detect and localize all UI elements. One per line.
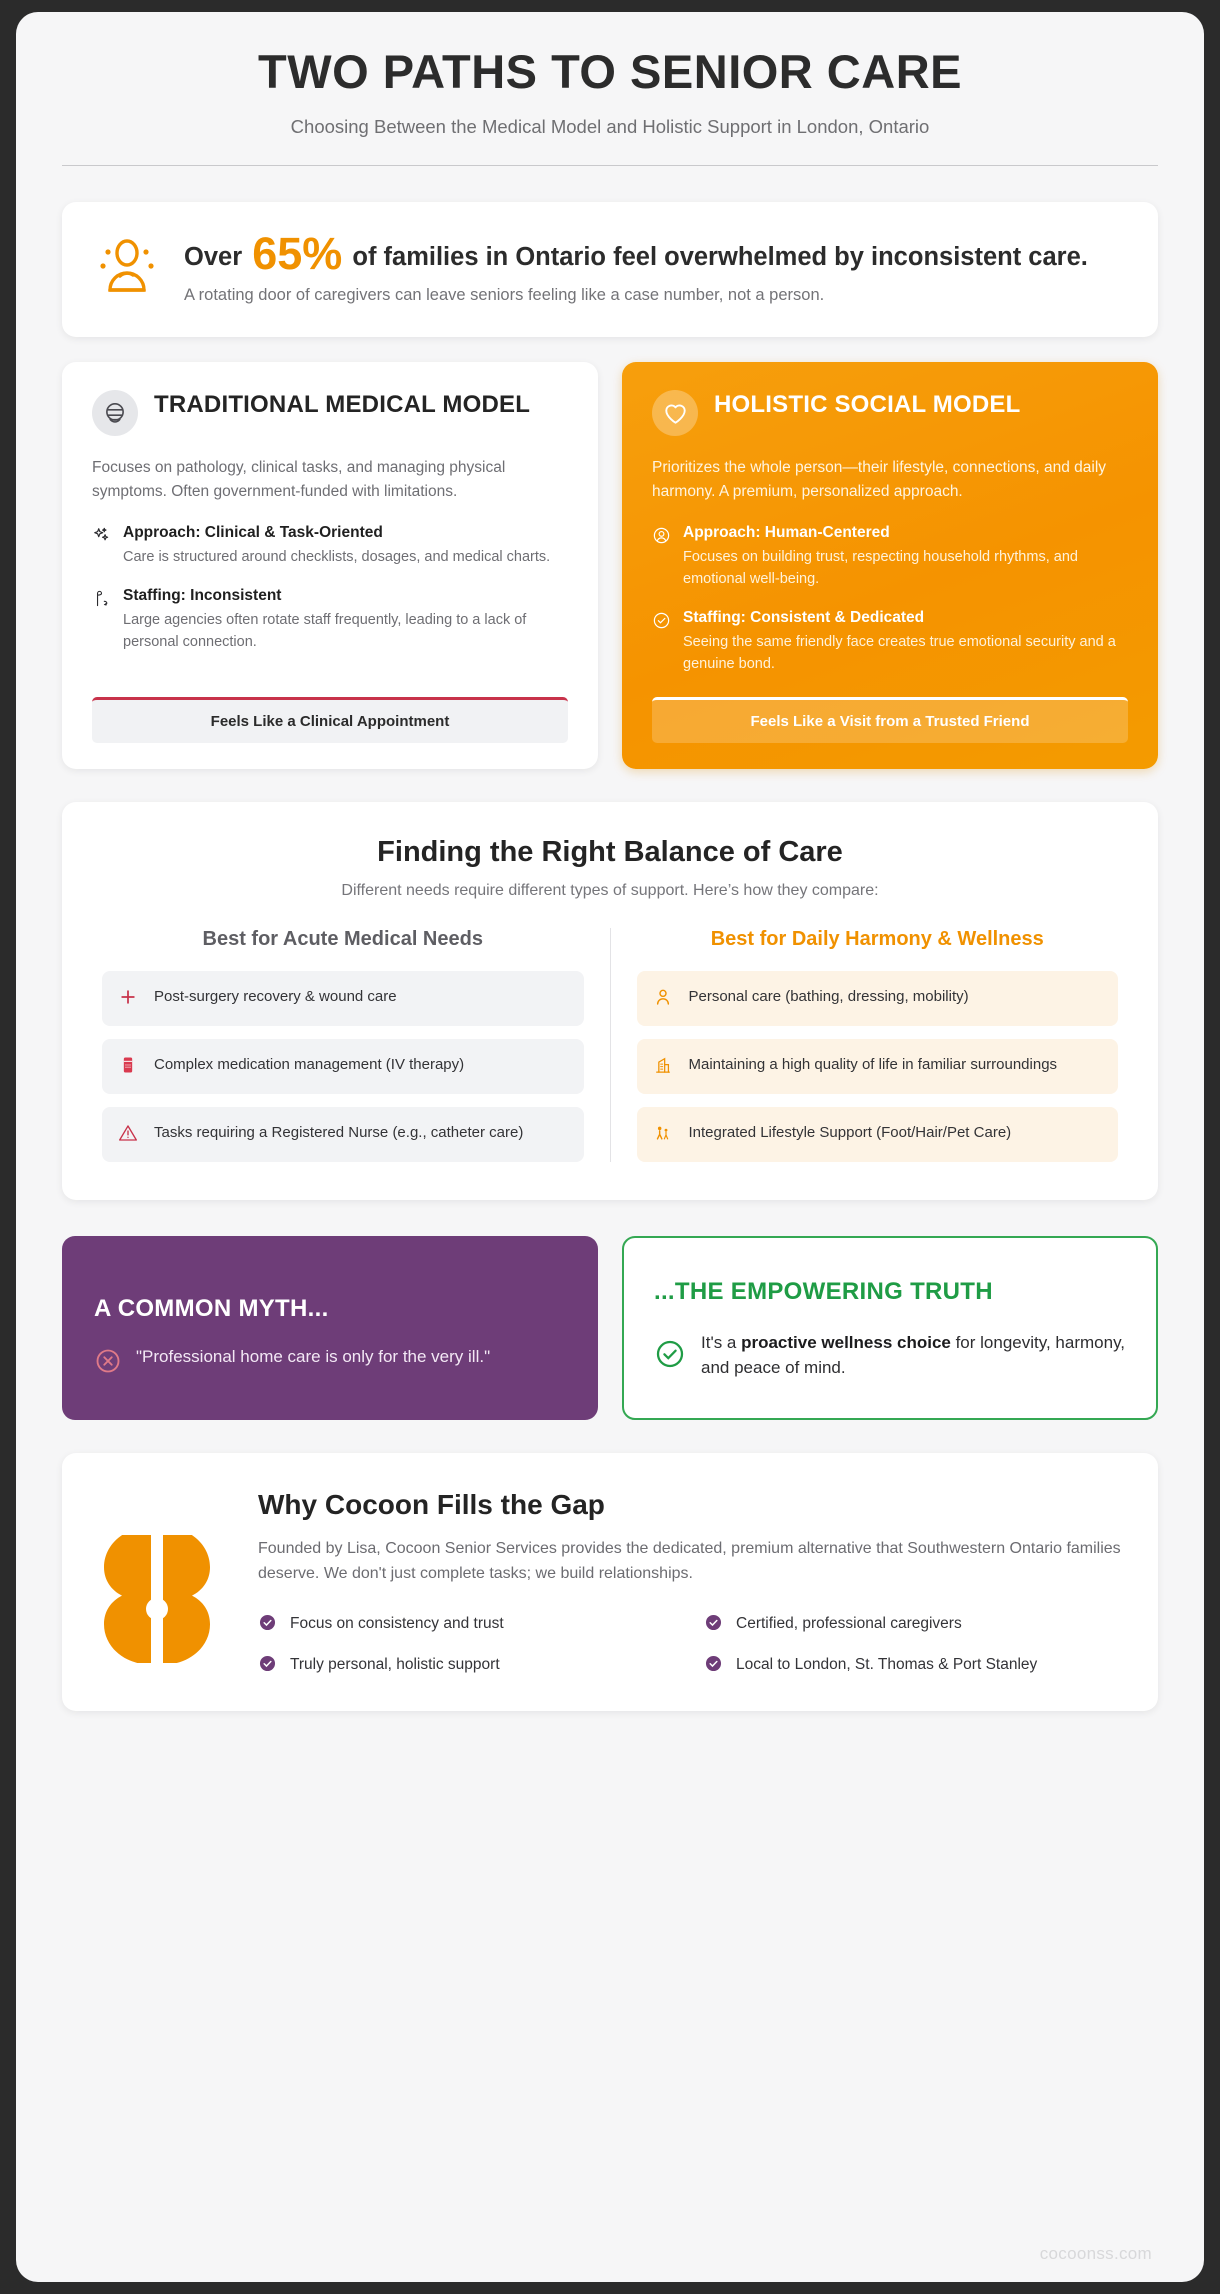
myth-truth-section: A COMMON MYTH... "Professional home care… [62, 1236, 1158, 1420]
x-circle-icon [94, 1345, 122, 1379]
screenshot-frame: TWO PATHS TO SENIOR CARE Choosing Betwee… [0, 0, 1220, 2294]
stethoscope-icon [92, 390, 138, 436]
why-title: Why Cocoon Fills the Gap [258, 1489, 1124, 1521]
stat-note: A rotating door of caregivers can leave … [184, 286, 1124, 305]
balance-lead: Different needs require different types … [96, 882, 1124, 900]
traditional-title: TRADITIONAL MEDICAL MODEL [154, 390, 530, 419]
people-group-icon [96, 232, 158, 300]
balance-columns: Best for Acute Medical Needs Post-surger… [96, 928, 1124, 1162]
check-circle-icon [654, 1338, 686, 1374]
holistic-feature-detail: Seeing the same friendly face creates tr… [683, 632, 1128, 676]
list-item-text: Maintaining a high quality of life in fa… [689, 1054, 1103, 1076]
why-cocoon-section: Why Cocoon Fills the Gap Founded by Lisa… [62, 1453, 1158, 1711]
traditional-feature-title: Staffing: Inconsistent [123, 586, 568, 606]
traditional-header: TRADITIONAL MEDICAL MODEL [92, 390, 568, 436]
balance-section: Finding the Right Balance of Care Differ… [62, 802, 1158, 1200]
traditional-feature-list: Approach: Clinical & Task-Oriented Care … [92, 523, 568, 654]
myth-heading: A COMMON MYTH... [94, 1295, 566, 1323]
list-item: Truly personal, holistic support [258, 1654, 678, 1677]
check-badge-icon [704, 1654, 723, 1677]
warning-triangle-icon [118, 1122, 140, 1147]
page-title: TWO PATHS TO SENIOR CARE [62, 46, 1158, 99]
staff-rotation-icon [92, 586, 112, 612]
traditional-description: Focuses on pathology, clinical tasks, an… [92, 456, 568, 504]
holistic-feature-detail: Focuses on building trust, respecting ho… [683, 547, 1128, 591]
list-item-text: Certified, professional caregivers [736, 1613, 962, 1635]
model-comparison: TRADITIONAL MEDICAL MODEL Focuses on pat… [62, 362, 1158, 769]
holistic-header: HOLISTIC SOCIAL MODEL [652, 390, 1128, 436]
home-quality-icon [653, 1054, 675, 1079]
list-item: Local to London, St. Thomas & Port Stanl… [704, 1654, 1124, 1677]
stat-prefix: Over [184, 243, 242, 271]
list-item-text: Tasks requiring a Registered Nurse (e.g.… [154, 1122, 568, 1144]
truth-text-before: It's a [701, 1333, 741, 1352]
traditional-feature-detail: Care is structured around checklists, do… [123, 547, 568, 569]
lifestyle-support-icon [653, 1122, 675, 1147]
why-body-text: Founded by Lisa, Cocoon Senior Services … [258, 1537, 1124, 1587]
list-item: Integrated Lifestyle Support (Foot/Hair/… [637, 1107, 1119, 1162]
watermark: cocoonss.com [1040, 2244, 1152, 2264]
holistic-description: Prioritizes the whole person—their lifes… [652, 456, 1128, 504]
sparkles-icon [92, 523, 112, 549]
list-item: Personal care (bathing, dressing, mobili… [637, 971, 1119, 1026]
list-item-text: Complex medication management (IV therap… [154, 1054, 568, 1076]
truth-card: ...THE EMPOWERING TRUTH It's a proactive… [622, 1236, 1158, 1420]
list-item: Certified, professional caregivers [704, 1613, 1124, 1636]
list-item-text: Personal care (bathing, dressing, mobili… [689, 986, 1103, 1008]
list-item-text: Local to London, St. Thomas & Port Stanl… [736, 1654, 1037, 1676]
truth-text-bold: proactive wellness choice [741, 1333, 951, 1352]
check-badge-icon [704, 1613, 723, 1636]
list-item: Focus on consistency and trust [258, 1613, 678, 1636]
traditional-footer-band: Feels Like a Clinical Appointment [92, 697, 568, 743]
check-badge-icon [258, 1613, 277, 1636]
holistic-feature-title: Staffing: Consistent & Dedicated [683, 608, 1128, 628]
list-item-text: Truly personal, holistic support [290, 1654, 500, 1676]
stat-suffix: of families in Ontario feel overwhelmed … [352, 243, 1087, 271]
page-subtitle: Choosing Between the Medical Model and H… [62, 116, 1158, 138]
balance-column-medical: Best for Acute Medical Needs Post-surger… [96, 928, 611, 1162]
traditional-feature-title: Approach: Clinical & Task-Oriented [123, 523, 568, 543]
balance-right-heading: Best for Daily Harmony & Wellness [637, 928, 1119, 951]
why-points-grid: Focus on consistency and trust Certified… [258, 1613, 1124, 1677]
traditional-feature-staffing: Staffing: Inconsistent Large agencies of… [92, 586, 568, 654]
stat-banner: Over 65% of families in Ontario feel ove… [62, 202, 1158, 338]
list-item: Post-surgery recovery & wound care [102, 971, 584, 1026]
holistic-feature-approach: Approach: Human-Centered Focuses on buil… [652, 523, 1128, 591]
balance-column-wellness: Best for Daily Harmony & Wellness Person… [611, 928, 1125, 1162]
stat-content: Over 65% of families in Ontario feel ove… [184, 232, 1124, 306]
person-icon [653, 986, 675, 1011]
holistic-title: HOLISTIC SOCIAL MODEL [714, 390, 1020, 419]
myth-text: "Professional home care is only for the … [136, 1345, 490, 1369]
cocoon-logo [96, 1489, 224, 1667]
traditional-feature-approach: Approach: Clinical & Task-Oriented Care … [92, 523, 568, 569]
list-item: Tasks requiring a Registered Nurse (e.g.… [102, 1107, 584, 1162]
traditional-model-card: TRADITIONAL MEDICAL MODEL Focuses on pat… [62, 362, 598, 769]
check-badge-icon [258, 1654, 277, 1677]
stat-headline: Over 65% of families in Ontario feel ove… [184, 234, 1124, 275]
infographic-page: TWO PATHS TO SENIOR CARE Choosing Betwee… [16, 12, 1204, 2282]
holistic-feature-list: Approach: Human-Centered Focuses on buil… [652, 523, 1128, 675]
holistic-model-card: HOLISTIC SOCIAL MODEL Prioritizes the wh… [622, 362, 1158, 769]
holistic-feature-title: Approach: Human-Centered [683, 523, 1128, 543]
traditional-feature-detail: Large agencies often rotate staff freque… [123, 610, 568, 654]
list-item-text: Post-surgery recovery & wound care [154, 986, 568, 1008]
truth-text: It's a proactive wellness choice for lon… [701, 1331, 1126, 1381]
truth-heading: ...THE EMPOWERING TRUTH [654, 1278, 1126, 1306]
list-item-text: Focus on consistency and trust [290, 1613, 504, 1635]
check-circle-icon [652, 608, 672, 634]
header-divider [62, 165, 1158, 166]
plus-cross-icon [118, 986, 140, 1011]
holistic-feature-staffing: Staffing: Consistent & Dedicated Seeing … [652, 608, 1128, 676]
user-circle-icon [652, 523, 672, 549]
medication-icon [118, 1054, 140, 1079]
list-item: Maintaining a high quality of life in fa… [637, 1039, 1119, 1094]
list-item-text: Integrated Lifestyle Support (Foot/Hair/… [689, 1122, 1103, 1144]
heart-icon [652, 390, 698, 436]
holistic-footer-band: Feels Like a Visit from a Trusted Friend [652, 697, 1128, 743]
list-item: Complex medication management (IV therap… [102, 1039, 584, 1094]
balance-title: Finding the Right Balance of Care [96, 836, 1124, 869]
stat-value: 65% [249, 228, 345, 279]
balance-left-heading: Best for Acute Medical Needs [102, 928, 584, 951]
myth-card: A COMMON MYTH... "Professional home care… [62, 1236, 598, 1420]
page-header: TWO PATHS TO SENIOR CARE Choosing Betwee… [62, 12, 1158, 166]
